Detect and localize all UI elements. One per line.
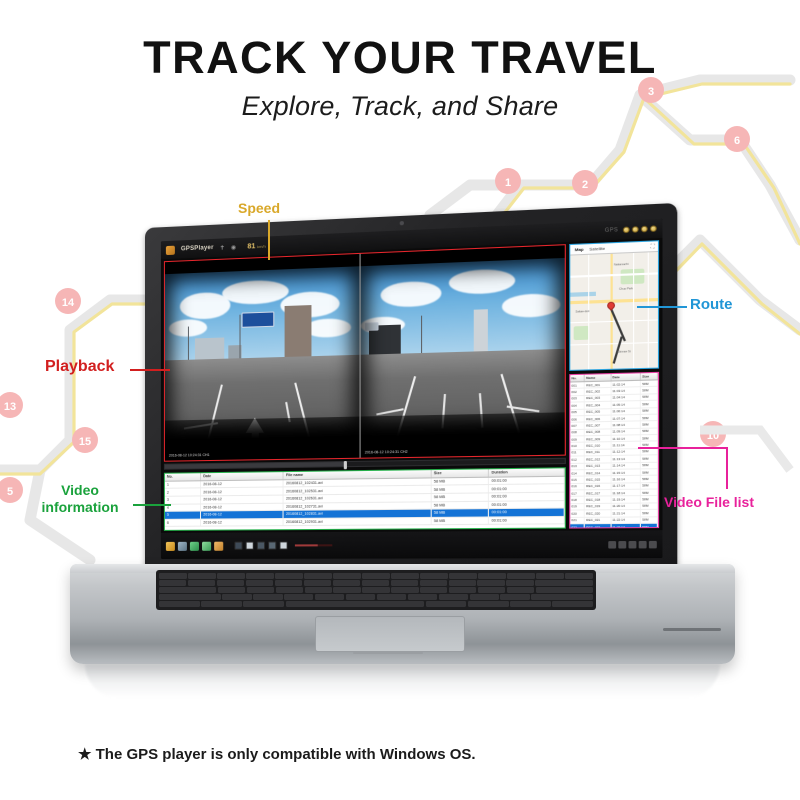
list-cell: 58M [641, 476, 658, 482]
list-cell: 11:08:14 [611, 422, 641, 428]
list-cell: 11:22:14 [611, 517, 641, 523]
export-icon[interactable] [178, 541, 187, 550]
list-cell: 58M [641, 449, 658, 455]
speed-value: 81 [247, 243, 255, 250]
pause-icon[interactable] [257, 541, 265, 549]
svg-text:2: 2 [582, 179, 588, 191]
list-cell: REC_010 [585, 443, 611, 449]
list-cell: 58M [641, 435, 658, 441]
cursor-icon[interactable]: ✝ [220, 244, 225, 251]
video-pane-front[interactable]: 2016-08-12 10:24:31 CH1 [165, 254, 360, 461]
list-cell: 11:21:14 [611, 510, 641, 516]
map-place-label: Sakae-dori [575, 310, 589, 314]
column-header[interactable]: Size [641, 373, 658, 380]
list-cell: REC_022 [585, 524, 611, 529]
laptop-base [70, 564, 735, 664]
map-place-label: Ekimae St [617, 350, 630, 354]
list-cell: 021 [570, 517, 585, 523]
list-item[interactable]: 022REC_02211:23:1458M [570, 524, 658, 529]
list-cell: 009 [570, 436, 585, 442]
table-row[interactable]: 62016-08-1220160812_102931.avi58 MB00:01… [165, 516, 564, 527]
list-cell: 58M [641, 469, 658, 475]
list-cell: REC_002 [585, 388, 611, 394]
tab-satellite[interactable]: Satellite [589, 246, 605, 252]
column-header[interactable]: Date [611, 373, 641, 380]
list-cell: REC_007 [585, 422, 611, 428]
video-osd-front: 2016-08-12 10:24:31 CH1 [169, 453, 210, 458]
list-cell: 004 [570, 402, 585, 408]
app-bottom-bar [161, 530, 663, 559]
list-cell: REC_001 [585, 382, 611, 388]
map-canvas[interactable]: Nakamachi Sakae-dori Chuo Park Ekimae St [570, 252, 658, 370]
annotation-playback: Playback [45, 358, 114, 376]
list-cell: 58M [641, 387, 658, 393]
list-cell: 019 [570, 504, 585, 510]
list-cell: 008 [570, 429, 585, 435]
table-cell: 2016-08-12 [201, 518, 284, 526]
seek-handle[interactable] [344, 461, 347, 469]
leader-line-file-list-h [638, 447, 726, 449]
save-icon[interactable] [214, 541, 223, 550]
list-cell: 58M [641, 503, 658, 509]
list-cell: 020 [570, 511, 585, 517]
svg-text:1: 1 [505, 177, 511, 189]
next-icon[interactable] [279, 541, 287, 549]
leader-line-route [637, 306, 687, 308]
list-cell: 58M [641, 462, 658, 468]
app-logo-icon [166, 245, 175, 254]
list-cell: 11:09:14 [611, 428, 641, 434]
leader-line-speed [268, 220, 270, 260]
volume-icon[interactable] [608, 541, 616, 548]
list-cell: REC_016 [585, 483, 611, 489]
speed-indicator: 81 km/h [247, 242, 265, 250]
list-cell: REC_004 [585, 402, 611, 408]
list-cell: REC_013 [585, 463, 611, 469]
list-cell: 58M [641, 408, 658, 414]
info-icon[interactable] [649, 540, 657, 548]
annotation-speed: Speed [238, 200, 280, 217]
list-cell: REC_014 [585, 470, 611, 476]
video-information-table[interactable]: No.DateFile nameSizeDuration 12016-08-12… [165, 468, 565, 527]
list-cell: 022 [570, 524, 585, 528]
stop-icon[interactable] [268, 541, 276, 549]
list-cell: 11:06:14 [611, 408, 641, 414]
leader-line-file-list-v [726, 447, 728, 489]
tab-map[interactable]: Map [575, 247, 584, 253]
laptop-screen: GPSPlayer ✝ ◉ 81 km/h GPS [161, 219, 663, 559]
video-pane-rear[interactable]: 2016-08-12 10:24:31 CH2 [360, 245, 565, 457]
list-cell: REC_008 [585, 429, 611, 435]
list-cell: 002 [570, 389, 585, 395]
list-cell: 11:05:14 [611, 401, 641, 407]
restore-button[interactable] [641, 226, 648, 233]
optical-drive-slot [663, 628, 721, 631]
list-cell: 003 [570, 396, 585, 402]
list-cell: REC_019 [585, 504, 611, 510]
list-cell: 58M [641, 455, 658, 461]
video-osd-rear: 2016-08-12 10:24:31 CH2 [365, 450, 408, 455]
list-cell: 11:15:14 [611, 469, 641, 475]
list-cell: REC_006 [585, 415, 611, 421]
list-cell: 11:12:14 [611, 449, 641, 455]
list-cell: 58M [641, 524, 658, 529]
list-cell: 11:20:14 [611, 503, 641, 509]
list-cell: 58M [641, 421, 658, 427]
video-information-panel: No.DateFile nameSizeDuration 12016-08-12… [164, 467, 566, 531]
annotation-video-information: Video information [22, 482, 138, 515]
list-cell: 58M [641, 380, 658, 386]
compatibility-note: ★ The GPS player is only compatible with… [78, 745, 476, 763]
webcam-icon [400, 221, 404, 225]
list-cell: REC_003 [585, 395, 611, 401]
prev-icon[interactable] [234, 542, 242, 550]
list-cell: 58M [641, 490, 658, 496]
list-cell: 11:14:14 [611, 462, 641, 468]
playback-region: 2016-08-12 10:24:31 CH1 [164, 244, 566, 462]
list-cell: 014 [570, 470, 585, 476]
toolbar-mini-label: GPS [605, 227, 619, 234]
table-cell: 00:01:00 [489, 516, 564, 525]
annotation-route: Route [690, 296, 733, 314]
leader-line-video-information [133, 504, 171, 506]
list-cell: REC_011 [585, 449, 611, 455]
list-cell: REC_018 [585, 497, 611, 503]
list-cell: 11:04:14 [611, 394, 641, 400]
list-cell: 017 [570, 490, 585, 496]
settings-icon[interactable] [202, 541, 211, 550]
svg-text:6: 6 [734, 135, 740, 147]
list-cell: 58M [641, 428, 658, 434]
open-folder-icon[interactable] [166, 541, 175, 550]
list-cell: 11:18:14 [611, 490, 641, 496]
list-cell: 007 [570, 423, 585, 429]
table-cell: 20160812_102931.avi [283, 517, 431, 526]
page-title: TRACK YOUR TRAVEL [0, 34, 800, 81]
list-cell: REC_009 [585, 436, 611, 442]
close-button[interactable] [650, 225, 657, 232]
list-cell: 58M [641, 510, 658, 516]
list-cell: 58M [641, 517, 658, 523]
list-cell: 011 [570, 450, 585, 456]
list-cell: 58M [641, 496, 658, 502]
annotation-video-file-list: Video File list [664, 494, 754, 511]
leader-line-playback [130, 369, 170, 371]
list-cell: 58M [641, 401, 658, 407]
list-cell: 11:02:14 [611, 381, 641, 387]
trackpad[interactable] [315, 616, 465, 652]
list-cell: REC_021 [585, 517, 611, 523]
globe-icon[interactable] [190, 541, 199, 550]
globe-icon[interactable]: ◉ [231, 243, 236, 250]
list-cell: 005 [570, 409, 585, 415]
list-cell: 11:19:14 [611, 497, 641, 503]
file-list-body: 001REC_00111:02:1458M002REC_00211:03:145… [570, 380, 658, 528]
column-header[interactable]: Name [585, 374, 611, 381]
buffer-progress[interactable] [295, 544, 332, 546]
list-cell: 11:13:14 [611, 456, 641, 462]
list-cell: 018 [570, 497, 585, 503]
list-cell: REC_012 [585, 456, 611, 462]
list-cell: 001 [570, 382, 585, 388]
list-cell: 11:11:14 [611, 442, 641, 448]
play-icon[interactable] [246, 542, 254, 550]
speed-unit: km/h [257, 243, 266, 248]
expand-icon[interactable]: ⛶ [651, 243, 655, 250]
zoom-icon[interactable] [639, 540, 647, 548]
laptop-mockup: GPSPlayer ✝ ◉ 81 km/h GPS [70, 228, 735, 698]
bottom-right-icons [608, 540, 657, 548]
list-cell: 58M [641, 394, 658, 400]
minimize-button[interactable] [623, 227, 630, 234]
maximize-button[interactable] [632, 226, 639, 233]
list-cell: 015 [570, 477, 585, 483]
svg-text:13: 13 [4, 401, 16, 413]
fullscreen-icon[interactable] [629, 540, 637, 547]
list-cell: 016 [570, 484, 585, 490]
list-cell: 11:23:14 [611, 524, 641, 529]
keyboard [156, 570, 596, 610]
app-name-label: GPSPlayer [181, 245, 214, 252]
map-place-label: Chuo Park [619, 288, 633, 292]
list-cell: 11:17:14 [611, 483, 641, 489]
page-subtitle: Explore, Track, and Share [0, 91, 800, 122]
list-cell: 11:07:14 [611, 415, 641, 421]
table-cell: 6 [165, 519, 201, 527]
list-cell: REC_017 [585, 490, 611, 496]
list-cell: 012 [570, 457, 585, 463]
page-header: TRACK YOUR TRAVEL Explore, Track, and Sh… [0, 34, 800, 122]
map-place-label: Nakamachi [614, 262, 629, 266]
column-header[interactable]: No. [570, 375, 585, 382]
window-controls: GPS [605, 225, 657, 234]
list-cell: 006 [570, 416, 585, 422]
laptop-lid: GPSPlayer ✝ ◉ 81 km/h GPS [145, 203, 677, 573]
svg-text:5: 5 [7, 486, 13, 498]
gps-player-app: GPSPlayer ✝ ◉ 81 km/h GPS [161, 219, 663, 559]
list-cell: 58M [641, 483, 658, 489]
list-cell: REC_015 [585, 476, 611, 482]
list-cell: 11:16:14 [611, 476, 641, 482]
list-cell: 013 [570, 463, 585, 469]
snapshot-icon[interactable] [618, 540, 626, 547]
list-cell: 11:10:14 [611, 435, 641, 441]
list-cell: 010 [570, 443, 585, 449]
list-cell: REC_005 [585, 409, 611, 415]
video-file-list-panel[interactable]: No.NameDateSize 001REC_00111:02:1458M002… [569, 372, 659, 529]
list-cell: 58M [641, 415, 658, 421]
list-cell: 11:03:14 [611, 388, 641, 394]
table-cell: 58 MB [431, 517, 489, 525]
list-cell: REC_020 [585, 510, 611, 516]
